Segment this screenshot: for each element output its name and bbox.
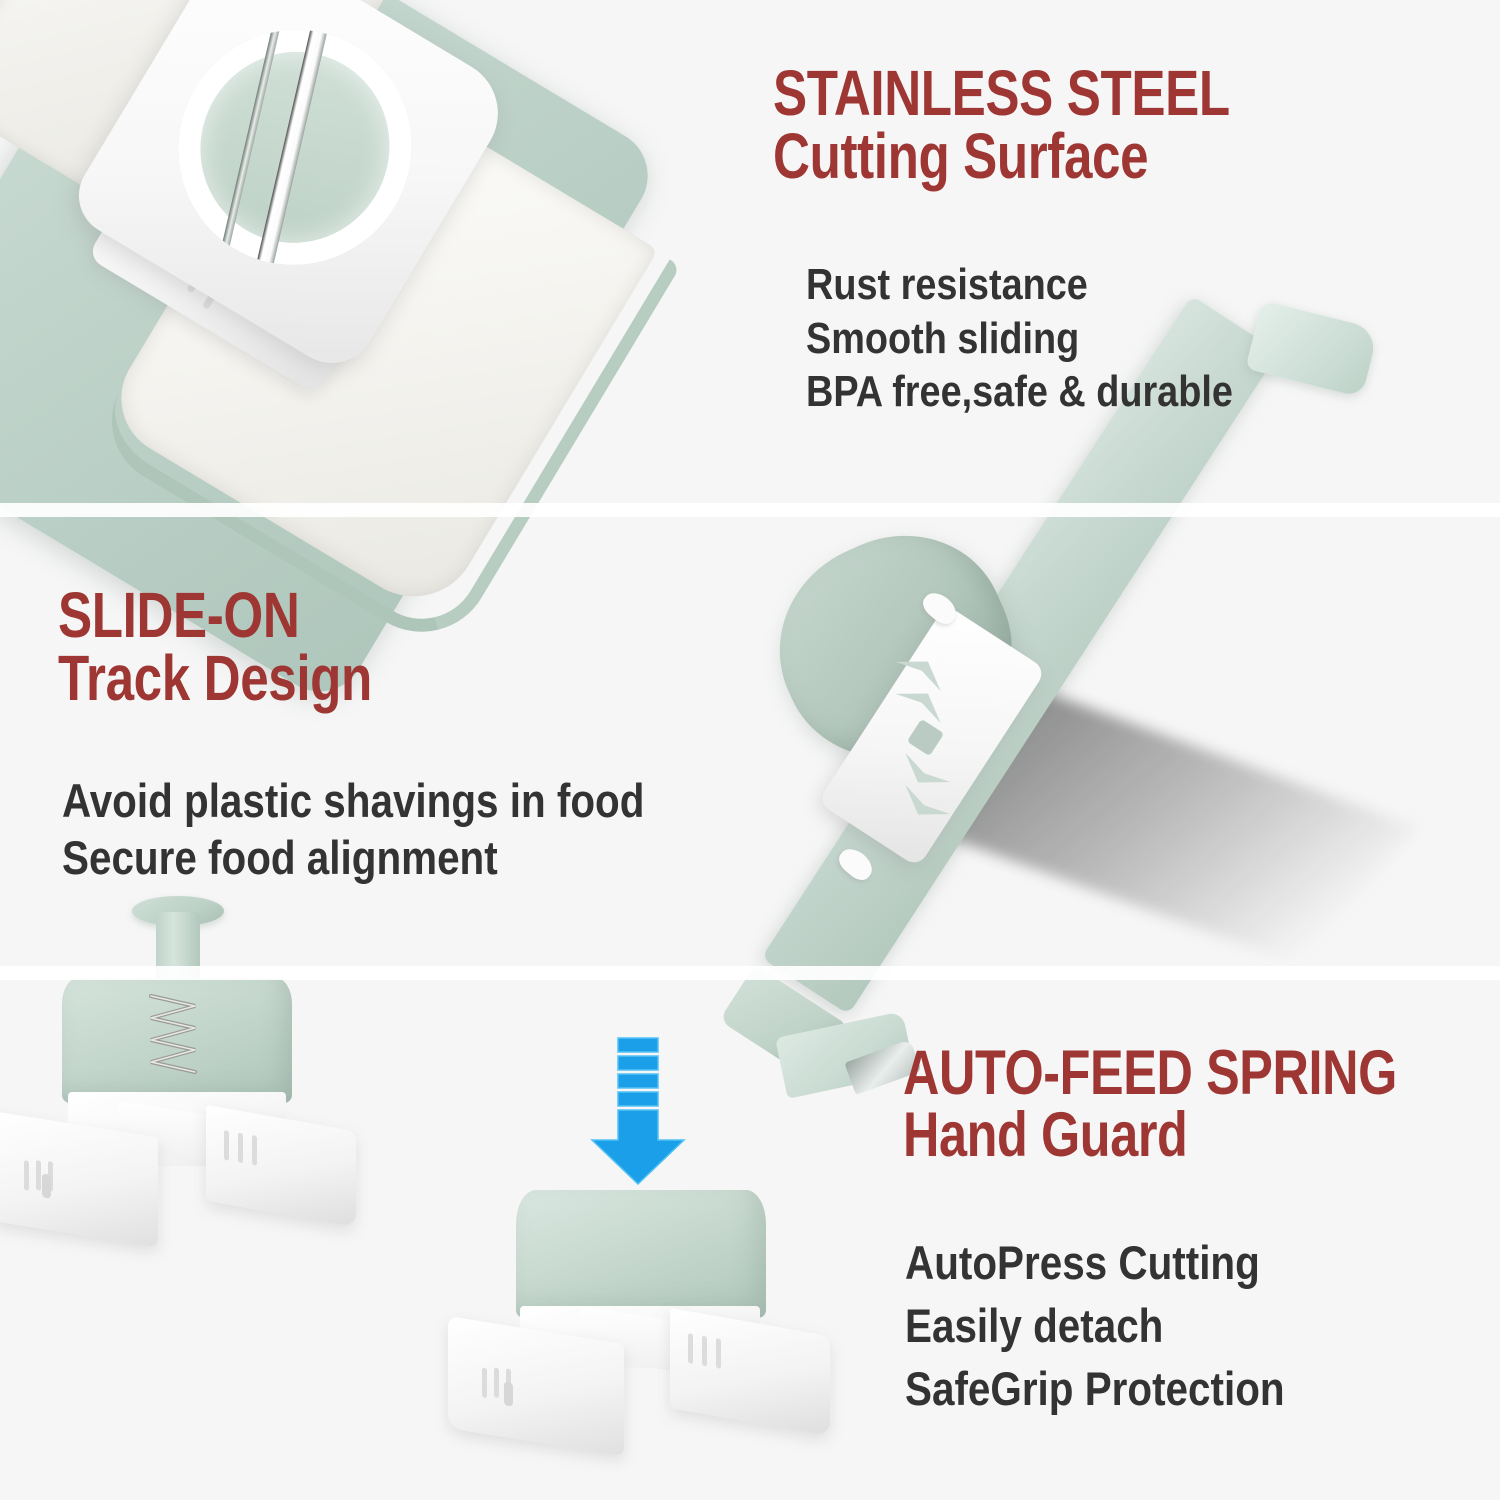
rail-ridge [482, 1367, 487, 1398]
bullets-stainless-steel: Rust resistance Smooth sliding BPA free,… [806, 258, 1233, 419]
headline-line-2: Hand Guard [903, 1105, 1397, 1167]
pressed-right-rail [670, 1308, 830, 1436]
rail-ridge [702, 1336, 707, 1367]
rail-slot [42, 1173, 51, 1198]
rail-ridge [688, 1333, 693, 1364]
bullet-item: Rust resistance [806, 258, 1233, 312]
coil-spring-icon [145, 988, 201, 1086]
handguard-photo [700, 300, 1500, 1120]
headline-auto-feed-spring: AUTO-FEED SPRING Hand Guard [903, 1043, 1397, 1166]
pusher-right-rail [206, 1105, 356, 1227]
blade-window [135, 0, 455, 308]
blade-cutting-edge [247, 0, 338, 307]
bullets-auto-feed-spring: AutoPress Cutting Easily detach SafeGrip… [905, 1232, 1285, 1421]
rail-ridge [716, 1338, 721, 1369]
headline-stainless-steel: STAINLESS STEEL Cutting Surface [773, 62, 1230, 187]
headline-line-2: Track Design [58, 647, 372, 710]
bullet-item: AutoPress Cutting [905, 1232, 1285, 1295]
section-divider [0, 966, 1500, 980]
headline-line-1: SLIDE-ON [58, 584, 372, 647]
pressed-green-body [516, 1190, 766, 1318]
bullet-item: Avoid plastic shavings in food [62, 772, 644, 829]
headline-line-1: STAINLESS STEEL [773, 62, 1230, 125]
section-divider [0, 503, 1500, 517]
blade-secondary-edge [213, 0, 295, 283]
press-down-arrow-icon [588, 1036, 688, 1188]
bullet-item: Easily detach [905, 1295, 1285, 1358]
rail-slot [504, 1381, 513, 1406]
rail-ridge [494, 1367, 499, 1398]
rail-ridge [252, 1135, 257, 1166]
rail-ridge [238, 1132, 243, 1163]
headline-line-1: AUTO-FEED SPRING [903, 1043, 1397, 1105]
headline-slide-on: SLIDE-ON Track Design [58, 584, 372, 709]
bullets-slide-on: Avoid plastic shavings in food Secure fo… [62, 772, 644, 887]
pressed-pusher-photo [448, 1030, 868, 1480]
handguard-strap-top-tip [1245, 301, 1378, 398]
spring-pusher-photo [0, 880, 410, 1330]
rail-ridge [36, 1160, 41, 1191]
infographic-canvas: STAINLESS STEEL Cutting Surface Rust res… [0, 0, 1500, 1500]
bullet-item: BPA free,safe & durable [806, 365, 1233, 419]
rail-ridge [24, 1160, 29, 1191]
bullet-item: Smooth sliding [806, 312, 1233, 366]
headline-line-2: Cutting Surface [773, 125, 1230, 188]
rail-ridge [224, 1130, 229, 1161]
bullet-item: Secure food alignment [62, 829, 644, 886]
bullet-item: SafeGrip Protection [905, 1358, 1285, 1421]
